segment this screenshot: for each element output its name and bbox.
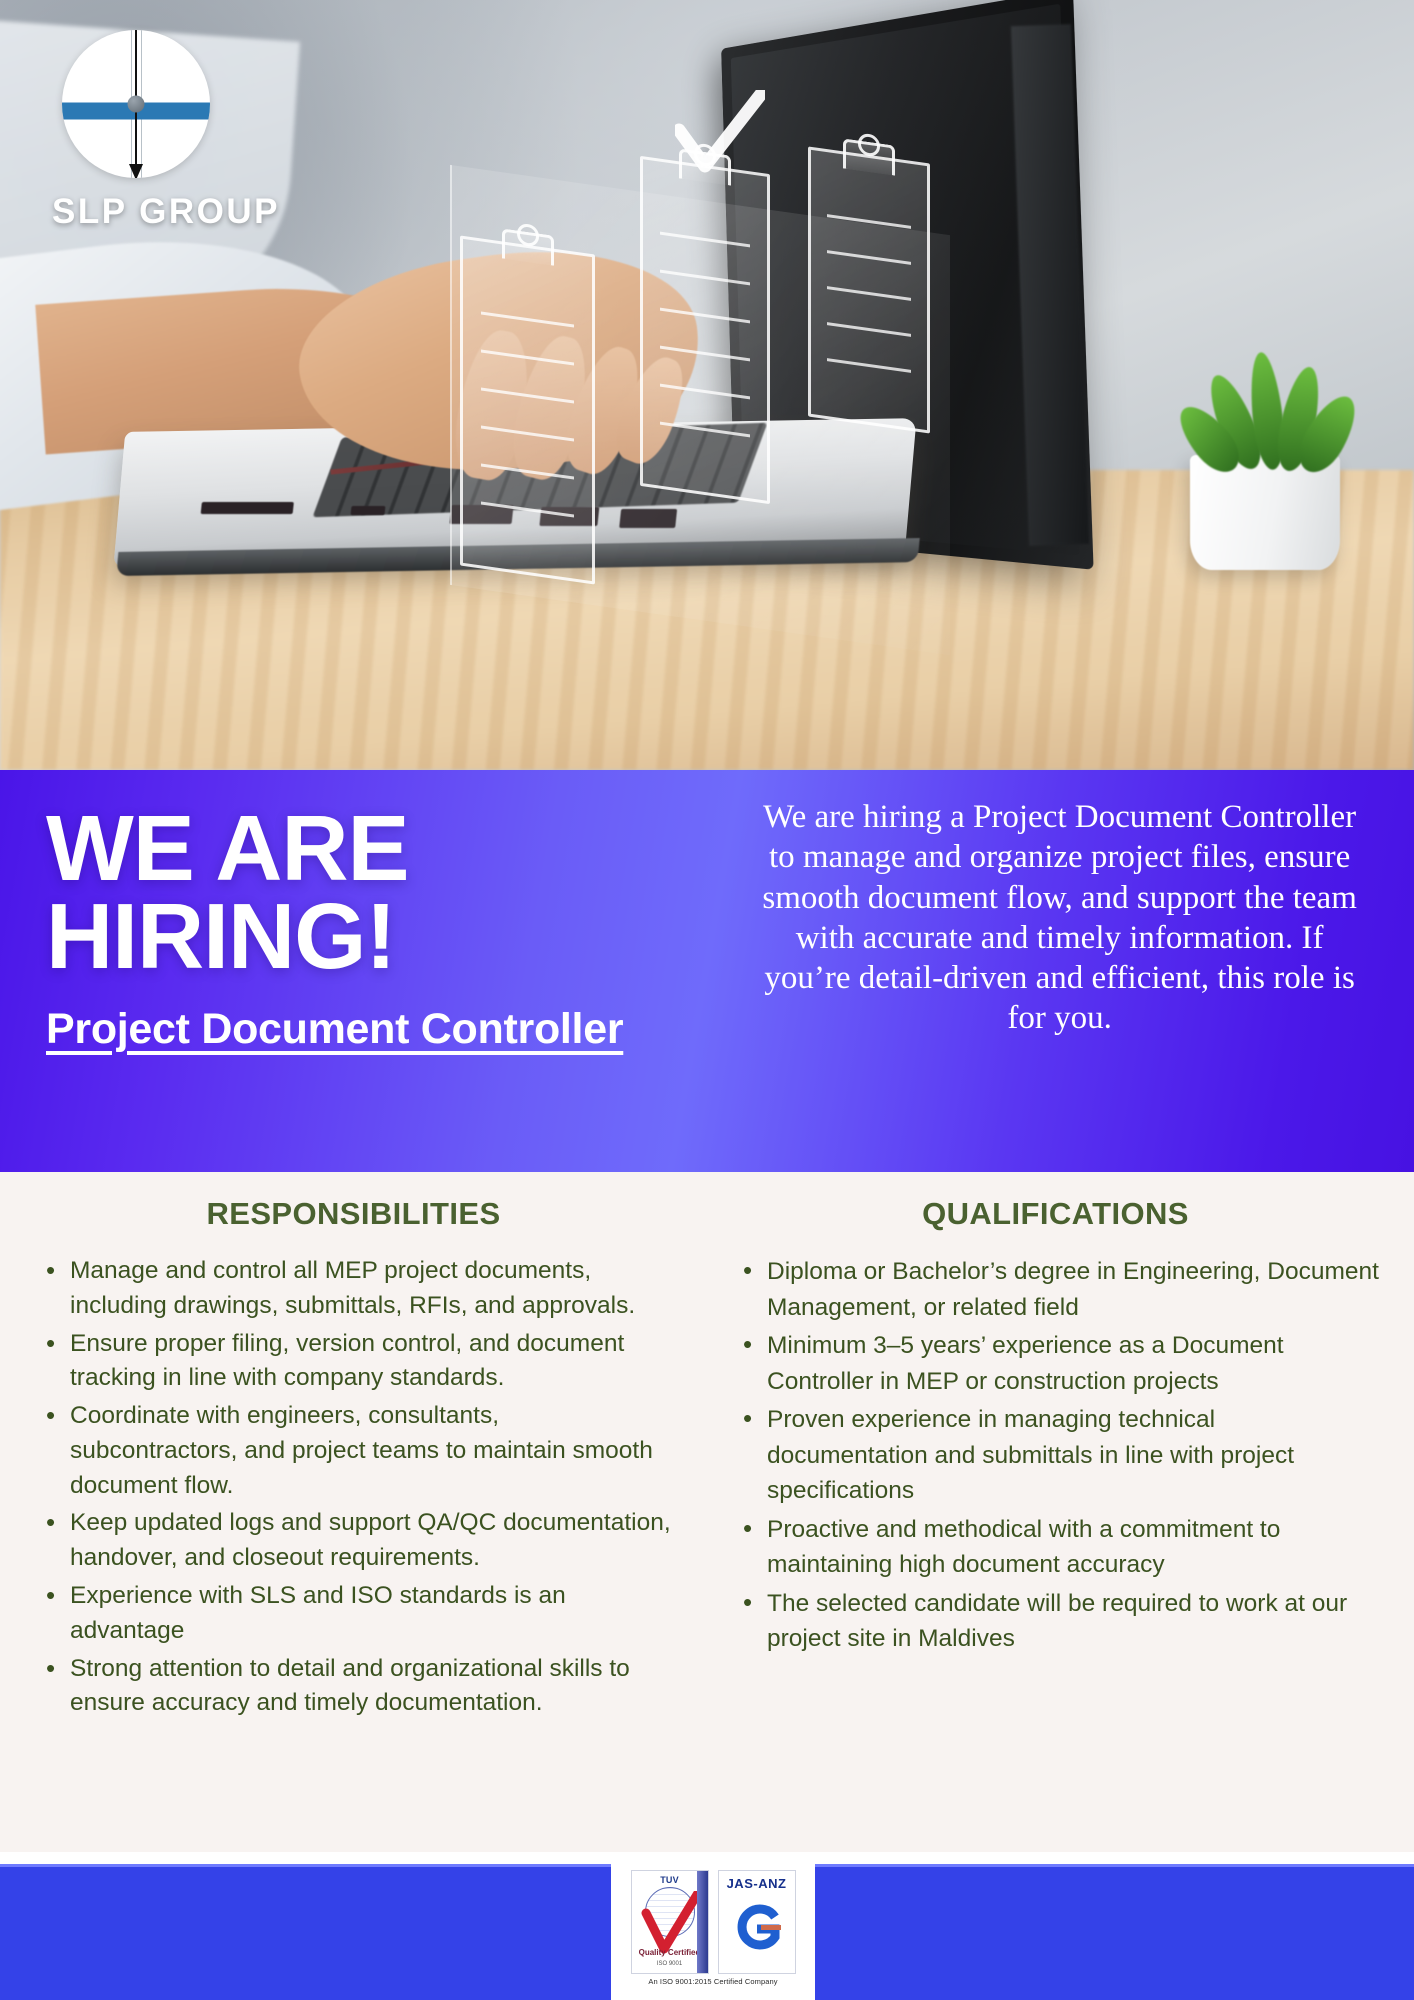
job-title: Project Document Controller [46, 1005, 735, 1054]
qualification-item: The selected candidate will be required … [731, 1586, 1380, 1657]
hologram-clipboard [640, 156, 770, 504]
responsibility-item: Keep updated logs and support QA/QC docu… [34, 1506, 673, 1576]
clipboard-clip-icon [679, 148, 731, 185]
job-details: RESPONSIBILITIES Manage and control all … [0, 1172, 1414, 1852]
responsibility-item: Manage and control all MEP project docum… [34, 1254, 673, 1324]
brand-name: SLP GROUP [52, 192, 312, 232]
responsibilities-heading: RESPONSIBILITIES [34, 1196, 673, 1232]
responsibility-item: Strong attention to detail and organizat… [34, 1652, 673, 1722]
qualifications-list: Diploma or Bachelor’s degree in Engineer… [731, 1254, 1380, 1657]
brand-logo: SLP GROUP [52, 30, 312, 232]
hero-image: SLP GROUP [0, 0, 1414, 770]
tuv-certificate-badge: TUV Quality Certified ISO 9001 [631, 1870, 709, 1974]
footer: TUV Quality Certified ISO 9001 JAS-ANZ [0, 1852, 1414, 2000]
certification-caption: An ISO 9001:2015 Certified Company [648, 1974, 777, 1986]
banner-left-column: WE ARE HIRING! Project Document Controll… [0, 770, 735, 1172]
responsibilities-column: RESPONSIBILITIES Manage and control all … [0, 1172, 707, 1852]
banner-right-column: We are hiring a Project Document Control… [735, 770, 1414, 1172]
responsibility-item: Ensure proper filing, version control, a… [34, 1327, 673, 1397]
hologram-documents [440, 80, 1140, 600]
qualification-item: Proactive and methodical with a commitme… [731, 1512, 1380, 1583]
responsibility-item: Coordinate with engineers, consultants, … [34, 1399, 673, 1503]
jas-anz-g-icon [731, 1901, 783, 1953]
job-summary-text: We are hiring a Project Document Control… [749, 797, 1370, 1039]
clipboard-clip-icon [502, 228, 554, 265]
slp-circle-arrow-logo-icon [62, 30, 210, 178]
hiring-banner: WE ARE HIRING! Project Document Controll… [0, 770, 1414, 1172]
clipboard-clip-icon [843, 138, 895, 175]
qualification-item: Proven experience in managing technical … [731, 1402, 1380, 1509]
qualification-item: Diploma or Bachelor’s degree in Engineer… [731, 1254, 1380, 1325]
qualification-item: Minimum 3–5 years’ experience as a Docum… [731, 1328, 1380, 1399]
jas-anz-certificate-badge: JAS-ANZ [718, 1870, 796, 1974]
certification-block: TUV Quality Certified ISO 9001 JAS-ANZ [611, 1862, 815, 2000]
hologram-clipboard [460, 236, 595, 585]
qualifications-heading: QUALIFICATIONS [731, 1196, 1380, 1232]
hologram-clipboard [808, 146, 930, 433]
qualifications-column: QUALIFICATIONS Diploma or Bachelor’s deg… [707, 1172, 1414, 1852]
badge-spine [697, 1871, 708, 1973]
headline-line-2: HIRING! [46, 892, 735, 980]
responsibilities-list: Manage and control all MEP project docum… [34, 1254, 673, 1721]
page-title: WE ARE HIRING! [46, 804, 735, 981]
jas-anz-label: JAS-ANZ [719, 1871, 795, 1891]
responsibility-item: Experience with SLS and ISO standards is… [34, 1579, 673, 1649]
hero-plant-pot [1190, 455, 1340, 570]
